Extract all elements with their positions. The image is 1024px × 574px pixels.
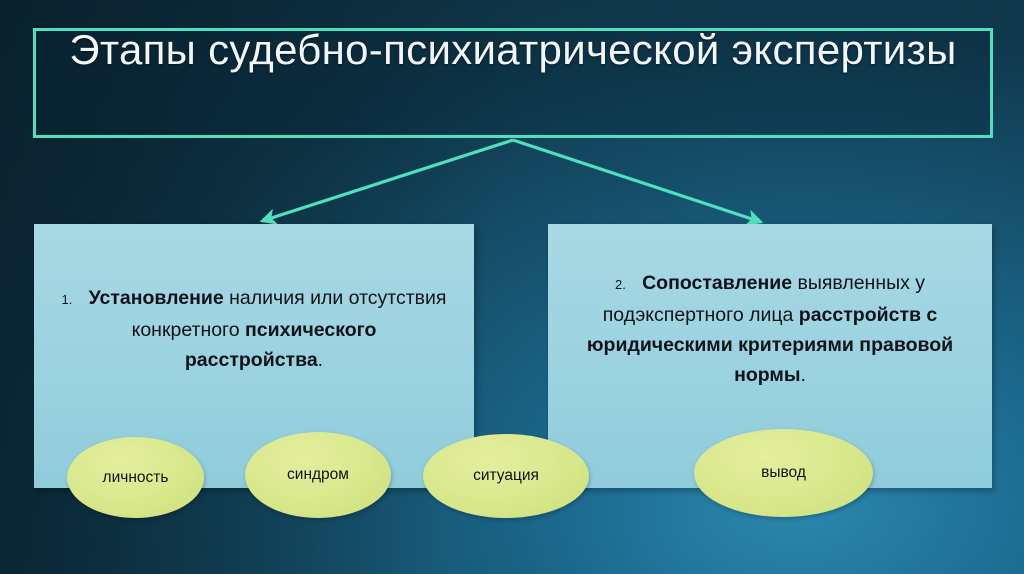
pill-vyvod-label: вывод — [761, 464, 806, 482]
stage-box-1-seg-3: . — [318, 349, 323, 371]
pill-situaciya: ситуация — [423, 434, 589, 518]
stage-box-1-seg-0: Установление — [89, 287, 224, 309]
arrow-to-left-box — [262, 140, 513, 221]
pill-lichnost-label: личность — [103, 469, 169, 487]
stage-box-2-seg-3: . — [801, 364, 806, 386]
pill-situaciya-label: ситуация — [473, 467, 539, 485]
page-title: Этапы судебно-психиатрической экспертизы — [33, 24, 993, 76]
pill-vyvod: вывод — [694, 429, 873, 517]
stage-box-2-number: 2. — [615, 277, 626, 292]
pill-sindrom-label: синдром — [287, 466, 349, 484]
pill-lichnost: личность — [67, 437, 204, 518]
stage-box-1-number: 1. — [61, 292, 72, 307]
pill-sindrom: синдром — [245, 432, 391, 518]
stage-box-1-text: 1. Установление наличия или отсутствия к… — [34, 283, 474, 429]
stage-box-2-text: 2. Сопоставление выявленных у подэксперт… — [548, 268, 992, 444]
arrow-to-right-box — [513, 140, 761, 222]
stage-box-2-seg-0: Сопоставление — [642, 272, 792, 294]
slide-canvas: Этапы судебно-психиатрической экспертизы… — [0, 0, 1024, 574]
